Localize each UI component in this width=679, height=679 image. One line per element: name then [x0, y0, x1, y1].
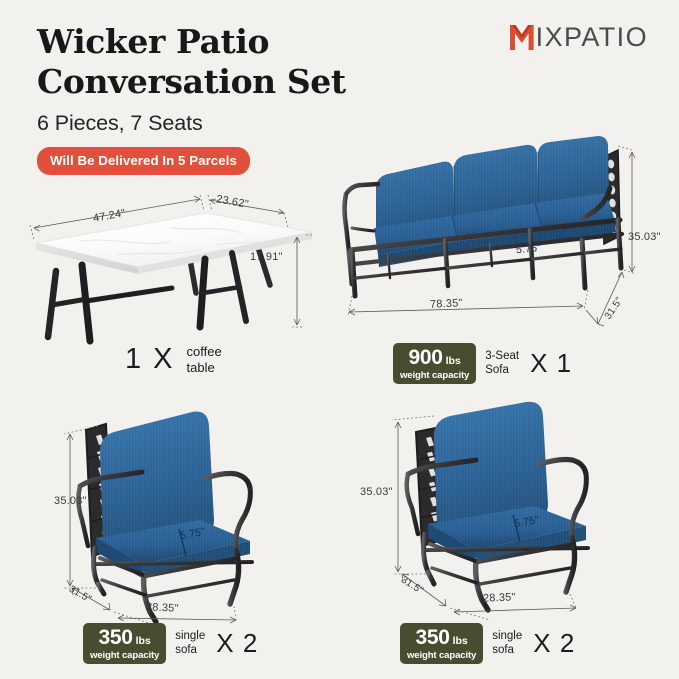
chair-left-weight-value: 350: [98, 627, 132, 648]
chair-left-weight-capacity-badge: 350 lbs weight capacity: [83, 623, 166, 664]
product-cell-single-sofa-right: 35.03" 31.5" 28.35" 5.75" 350 lbs weight…: [350, 398, 660, 673]
chair-right-weight-label: weight capacity: [407, 651, 476, 661]
sofa-weight-value: 900: [408, 347, 442, 368]
title-line-2: Conversation Set: [37, 62, 397, 102]
product-cell-three-seat-sofa: 35.03" 78.35" 31.5" 5.75" 900 lbs weight…: [330, 128, 670, 390]
coffee-table-height-label: 17.91": [250, 251, 283, 263]
sofa-height-label: 35.03": [628, 231, 661, 243]
chair-left-caption: 350 lbs weight capacity single sofa X 2: [83, 623, 258, 664]
table-leg-front-right: [200, 253, 246, 327]
logo-m-icon: [509, 24, 535, 51]
chair-right-product-name: single sofa: [492, 630, 522, 657]
table-stretcher: [86, 288, 172, 301]
chair-right-width-label: 28.35": [483, 591, 516, 604]
table-leg-front-left: [48, 265, 90, 341]
chair-left-width-label: 28.35": [146, 601, 179, 615]
title-line-1: Wicker Patio: [37, 22, 397, 62]
sofa-quantity: X 1: [530, 348, 572, 379]
coffee-table-illustration: [20, 185, 320, 345]
chair-right-weight-capacity-badge: 350 lbs weight capacity: [400, 623, 483, 664]
logo-wordmark: IXPATIO: [536, 24, 648, 51]
chair-left-quantity: X 2: [216, 628, 258, 659]
chair-left-weight-label: weight capacity: [90, 651, 159, 661]
sofa-caption: 900 lbs weight capacity 3-Seat Sofa X 1: [393, 343, 572, 384]
sofa-product-name: 3-Seat Sofa: [485, 350, 519, 377]
coffee-table-name: coffee table: [187, 344, 222, 375]
sofa-left-arm: [345, 184, 379, 284]
chair-right-caption: 350 lbs weight capacity single sofa X 2: [400, 623, 575, 664]
coffee-table-caption: 1 X coffee table: [125, 343, 222, 376]
parcel-delivery-badge: Will Be Delivered In 5 Parcels: [37, 147, 250, 175]
table-top: [36, 213, 312, 274]
sofa-weight-unit: lbs: [446, 356, 461, 367]
brand-logo: IXPATIO: [509, 24, 648, 51]
sofa-weight-capacity-badge: 900 lbs weight capacity: [393, 343, 476, 384]
chair-right-quantity: X 2: [533, 628, 575, 659]
product-cell-single-sofa-left: 35.03" 31.5" 28.35" 5.75" 350 lbs weight…: [38, 398, 338, 673]
sofa-width-label: 78.35": [430, 297, 463, 311]
chair-right-height-label: 35.03": [360, 486, 393, 498]
chair-left-weight-unit: lbs: [136, 636, 151, 647]
page-title: Wicker Patio Conversation Set: [37, 22, 397, 102]
coffee-table-quantity: 1 X: [125, 343, 175, 376]
chair-left-height-label: 35.03": [54, 495, 87, 507]
sofa-weight-label: weight capacity: [400, 371, 469, 381]
product-cell-coffee-table: 47.24" 23.62" 17.91" 1 X coffee table: [20, 185, 320, 390]
chair-right-weight-value: 350: [415, 627, 449, 648]
chair-right-weight-unit: lbs: [453, 636, 468, 647]
chair-left-product-name: single sofa: [175, 630, 205, 657]
infographic-page: Wicker Patio Conversation Set 6 Pieces, …: [0, 0, 679, 679]
